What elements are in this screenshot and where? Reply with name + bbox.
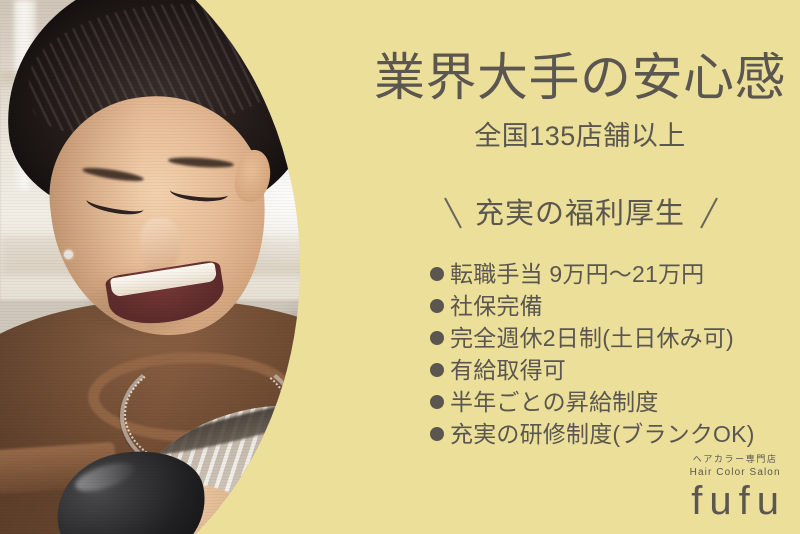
benefit-label: 転職手当 9万円〜21万円: [450, 263, 704, 286]
benefit-label: 完全週休2日制(土日休み可): [450, 327, 734, 350]
page-title: 業界大手の安心感: [372, 52, 788, 103]
bullet-icon: [430, 427, 444, 441]
page-subtitle: 全国135店舗以上: [372, 123, 788, 150]
list-item: 転職手当 9万円〜21万円: [430, 258, 755, 290]
benefits-heading-label: 充実の福利厚生: [475, 200, 685, 229]
bullet-icon: [430, 363, 444, 377]
brand-logo: ヘアカラー専門店 Hair Color Salon fufu: [684, 453, 786, 522]
benefit-label: 社保完備: [450, 295, 543, 318]
list-item: 完全週休2日制(土日休み可): [430, 322, 755, 354]
benefits-heading: 充実の福利厚生: [372, 198, 788, 230]
stylist-photo: [0, 0, 372, 534]
benefit-label: 有給取得可: [450, 359, 566, 382]
benefit-label: 半年ごとの昇給制度: [450, 391, 659, 414]
list-item: 充実の研修制度(ブランクOK): [430, 418, 755, 450]
bullet-icon: [430, 267, 444, 281]
bullet-icon: [430, 395, 444, 409]
benefits-list: 転職手当 9万円〜21万円 社保完備 完全週休2日制(土日休み可) 有給取得可 …: [430, 258, 755, 450]
decorative-slash-left-icon: [429, 198, 459, 230]
brand-wordmark: fufu: [684, 480, 786, 522]
list-item: 有給取得可: [430, 354, 755, 386]
list-item: 半年ごとの昇給制度: [430, 386, 755, 418]
bullet-icon: [430, 331, 444, 345]
photo-inner: [0, 0, 372, 534]
stylist-earring: [64, 250, 73, 259]
benefit-label: 充実の研修制度(ブランクOK): [450, 423, 755, 446]
list-item: 社保完備: [430, 290, 755, 322]
brand-tagline-jp: ヘアカラー専門店: [684, 453, 786, 465]
recruitment-poster: 業界大手の安心感 全国135店舗以上 充実の福利厚生 転職手当 9万円〜21万円…: [0, 0, 800, 534]
content-column: 業界大手の安心感 全国135店舗以上 充実の福利厚生 転職手当 9万円〜21万円…: [372, 0, 800, 534]
brand-tagline-en: Hair Color Salon: [684, 465, 786, 480]
decorative-slash-right-icon: [701, 198, 731, 230]
black-glove-right: [268, 390, 372, 494]
bullet-icon: [430, 299, 444, 313]
